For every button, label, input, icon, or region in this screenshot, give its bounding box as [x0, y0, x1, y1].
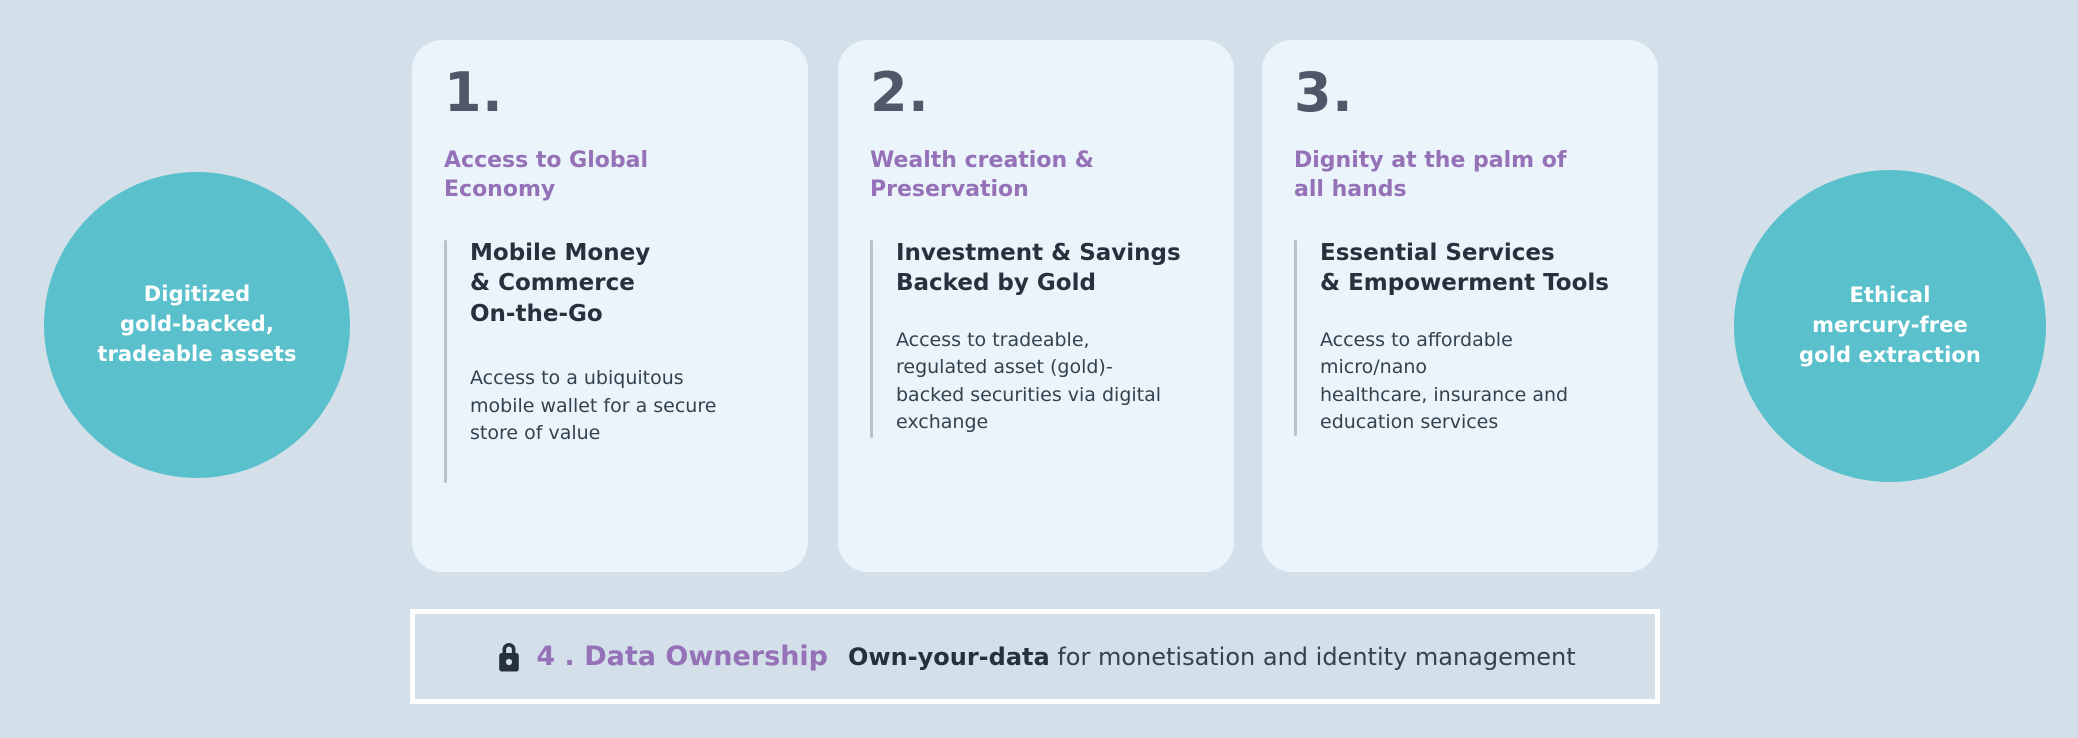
banner-content: 4 . Data Ownership Own-your-data for mon…: [494, 640, 1575, 674]
banner-bold-text: Own-your-data: [848, 643, 1050, 671]
right-circle-label: Ethical mercury-free gold extraction: [1789, 281, 1991, 370]
card-2-number: 2.: [870, 66, 1200, 120]
pillar-card-2[interactable]: 2. Wealth creation & Preservation Invest…: [838, 40, 1234, 572]
card-3-subtitle: Dignity at the palm of all hands: [1294, 146, 1624, 204]
card-1-body-text: Access to a ubiquitous mobile wallet for…: [470, 365, 774, 447]
left-circle-label: Digitized gold-backed, tradeable assets: [87, 280, 306, 369]
pillar-card-1[interactable]: 1. Access to Global Economy Mobile Money…: [412, 40, 808, 572]
left-circle-badge: Digitized gold-backed, tradeable assets: [44, 172, 350, 478]
lock-icon: [494, 640, 524, 674]
card-1-subtitle: Access to Global Economy: [444, 146, 774, 204]
accent-bar-icon: [1294, 240, 1297, 436]
card-1-body-heading: Mobile Money & Commerce On-the-Go: [470, 238, 774, 329]
right-circle-badge: Ethical mercury-free gold extraction: [1734, 170, 2046, 482]
accent-bar-icon: [870, 240, 873, 438]
card-3-number: 3.: [1294, 66, 1624, 120]
banner-number-label: 4 . Data Ownership: [536, 641, 828, 672]
accent-bar-icon: [444, 240, 447, 483]
pillar-card-3[interactable]: 3. Dignity at the palm of all hands Esse…: [1262, 40, 1658, 572]
card-2-body: Investment & Savings Backed by Gold Acce…: [870, 238, 1200, 438]
card-2-subtitle: Wealth creation & Preservation: [870, 146, 1200, 204]
banner-rest-text: for monetisation and identity management: [1050, 643, 1576, 671]
card-2-body-heading: Investment & Savings Backed by Gold: [896, 238, 1200, 299]
data-ownership-banner[interactable]: 4 . Data Ownership Own-your-data for mon…: [410, 609, 1660, 704]
card-3-body-text: Access to affordable micro/nano healthca…: [1320, 327, 1624, 436]
card-3-body-heading: Essential Services & Empowerment Tools: [1320, 238, 1624, 299]
card-3-body: Essential Services & Empowerment Tools A…: [1294, 238, 1624, 436]
card-1-number: 1.: [444, 66, 774, 120]
diagram-canvas: Digitized gold-backed, tradeable assets …: [0, 0, 2078, 738]
card-2-body-text: Access to tradeable, regulated asset (go…: [896, 327, 1200, 436]
card-1-body: Mobile Money & Commerce On-the-Go Access…: [444, 238, 774, 483]
